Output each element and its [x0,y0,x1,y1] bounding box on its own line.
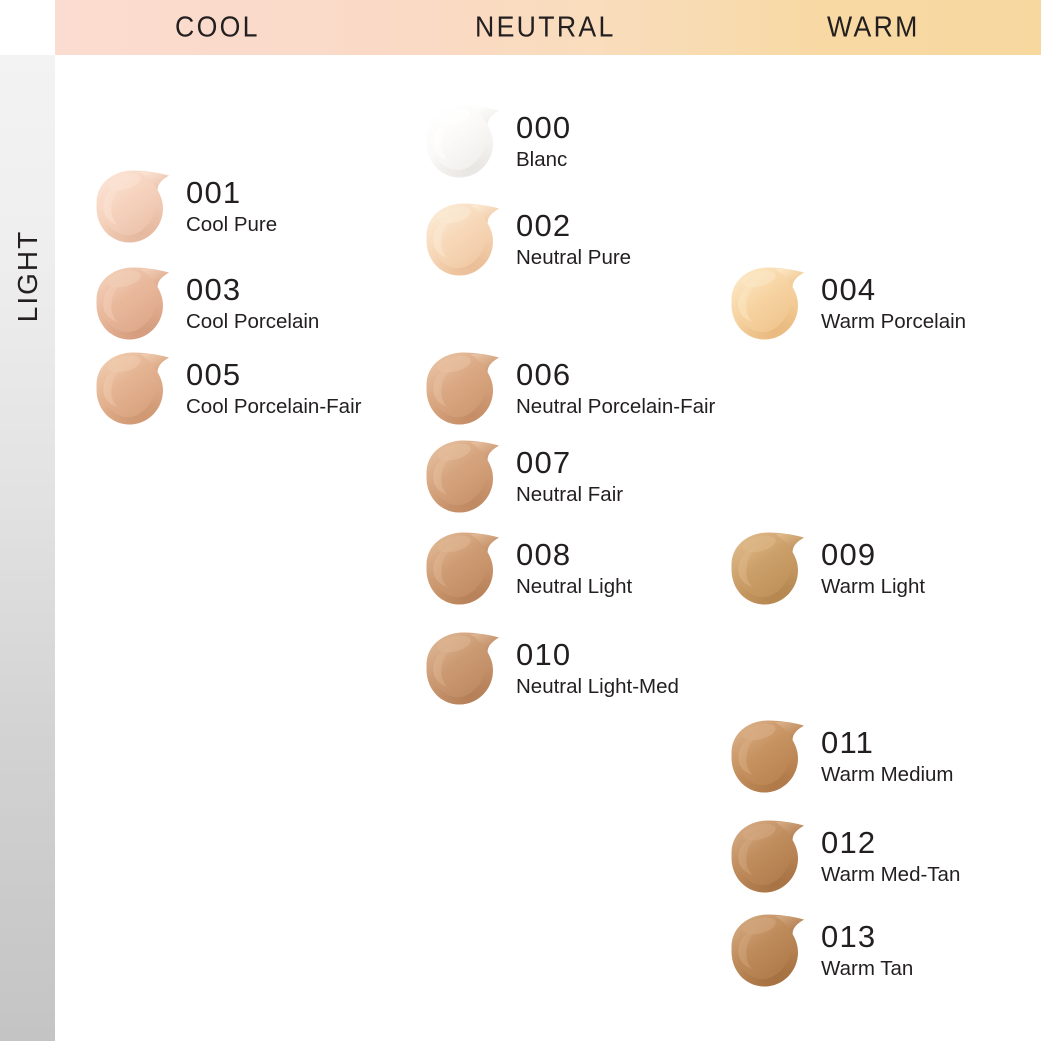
shade-code: 005 [186,359,361,391]
shade-text-block: 002Neutral Pure [516,210,631,271]
shade-code: 006 [516,359,715,391]
shade-swatch[interactable] [723,713,811,801]
shade-name: Cool Porcelain [186,309,319,335]
swatch-blob-shape [418,433,506,521]
shade-swatch[interactable] [418,525,506,613]
shade-row[interactable]: 012Warm Med-Tan [723,813,960,901]
shade-text-block: 011Warm Medium [821,727,954,788]
shade-code: 011 [821,727,954,759]
column-header-neutral: NEUTRAL [475,11,616,44]
shade-row[interactable]: 007Neutral Fair [418,433,623,521]
shade-name: Warm Tan [821,956,913,982]
shade-row[interactable]: 013Warm Tan [723,907,913,995]
shade-name: Warm Porcelain [821,309,966,335]
swatch-blob-shape [88,163,176,251]
shade-swatch[interactable] [723,260,811,348]
shade-text-block: 000Blanc [516,112,571,173]
shade-row[interactable]: 010Neutral Light-Med [418,625,679,713]
shade-text-block: 012Warm Med-Tan [821,827,960,888]
shade-code: 008 [516,539,632,571]
shade-row[interactable]: 003Cool Porcelain [88,260,319,348]
shade-name: Neutral Porcelain-Fair [516,394,715,420]
swatch-blob-shape [88,345,176,433]
shade-code: 012 [821,827,960,859]
shade-row[interactable]: 002Neutral Pure [418,196,631,284]
shade-code: 013 [821,921,913,953]
swatch-blob-shape [418,196,506,284]
shade-swatch[interactable] [88,163,176,251]
swatch-blob-shape [723,525,811,613]
shade-code: 003 [186,274,319,306]
shade-code: 002 [516,210,631,242]
shade-text-block: 013Warm Tan [821,921,913,982]
shade-text-block: 009Warm Light [821,539,925,600]
column-header-cool: COOL [175,11,260,44]
shade-text-block: 010Neutral Light-Med [516,639,679,700]
shade-swatch[interactable] [723,813,811,901]
shade-code: 010 [516,639,679,671]
shade-text-block: 004Warm Porcelain [821,274,966,335]
shade-code: 000 [516,112,571,144]
shade-code: 004 [821,274,966,306]
shade-row[interactable]: 000Blanc [418,98,571,186]
shade-swatch[interactable] [723,907,811,995]
shade-row[interactable]: 001Cool Pure [88,163,277,251]
shade-swatch[interactable] [418,98,506,186]
shade-chart: COOL NEUTRAL WARM LIGHT [0,0,1041,1041]
shade-name: Neutral Light [516,574,632,600]
shade-row[interactable]: 011Warm Medium [723,713,954,801]
shade-swatch[interactable] [418,625,506,713]
shade-name: Warm Light [821,574,925,600]
shade-swatch[interactable] [418,345,506,433]
shade-text-block: 006Neutral Porcelain-Fair [516,359,715,420]
shade-row[interactable]: 006Neutral Porcelain-Fair [418,345,715,433]
shade-code: 001 [186,177,277,209]
swatch-blob-shape [418,625,506,713]
shade-name: Warm Medium [821,762,954,788]
shade-swatch[interactable] [418,433,506,521]
swatch-blob-shape [88,260,176,348]
depth-rail-label: LIGHT [12,230,44,322]
shade-name: Warm Med-Tan [821,862,960,888]
swatch-blob-shape [418,525,506,613]
shade-swatch[interactable] [418,196,506,284]
shade-text-block: 001Cool Pure [186,177,277,238]
shade-text-block: 003Cool Porcelain [186,274,319,335]
column-header-warm: WARM [827,11,920,44]
shade-swatch[interactable] [88,345,176,433]
shade-swatch[interactable] [723,525,811,613]
depth-rail: LIGHT [0,55,55,1041]
shade-name: Cool Porcelain-Fair [186,394,361,420]
shade-row[interactable]: 004Warm Porcelain [723,260,966,348]
shade-code: 009 [821,539,925,571]
shade-swatch[interactable] [88,260,176,348]
shade-text-block: 007Neutral Fair [516,447,623,508]
shade-name: Neutral Light-Med [516,674,679,700]
shade-row[interactable]: 005Cool Porcelain-Fair [88,345,361,433]
undertone-header-band: COOL NEUTRAL WARM [55,0,1041,55]
shade-text-block: 008Neutral Light [516,539,632,600]
shade-row[interactable]: 008Neutral Light [418,525,632,613]
shade-name: Cool Pure [186,212,277,238]
swatch-blob-shape [418,345,506,433]
shade-code: 007 [516,447,623,479]
shade-name: Neutral Fair [516,482,623,508]
swatch-blob-shape [723,713,811,801]
shade-name: Neutral Pure [516,245,631,271]
swatch-blob-shape [418,98,506,186]
swatch-blob-shape [723,907,811,995]
swatch-blob-shape [723,813,811,901]
shade-name: Blanc [516,147,571,173]
shade-text-block: 005Cool Porcelain-Fair [186,359,361,420]
shade-row[interactable]: 009Warm Light [723,525,925,613]
swatch-blob-shape [723,260,811,348]
